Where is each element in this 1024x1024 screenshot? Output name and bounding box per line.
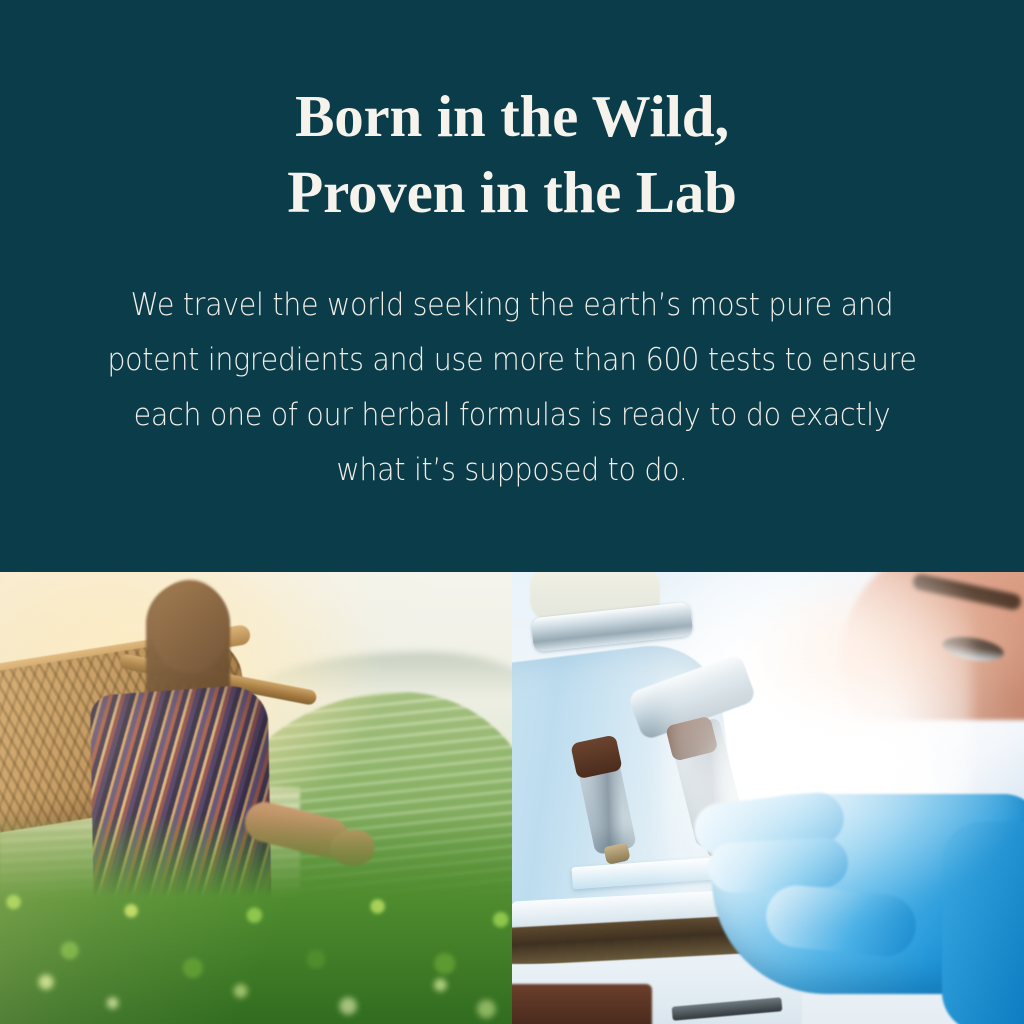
headline-line-1: Born in the Wild,: [0, 78, 1024, 154]
photo-strip: [0, 572, 1024, 1024]
tea-harvest-photo: [0, 572, 512, 1024]
teal-text-band: Born in the Wild, Proven in the Lab We t…: [0, 0, 1024, 572]
marketing-poster: Born in the Wild, Proven in the Lab We t…: [0, 0, 1024, 1024]
foreground-bokeh: [0, 874, 512, 1024]
objective-collar: [570, 735, 622, 780]
page-title: Born in the Wild, Proven in the Lab: [0, 78, 1024, 230]
microscope-base-shadow: [512, 984, 652, 1024]
glove-wrist: [942, 822, 1024, 1024]
headline-line-2: Proven in the Lab: [0, 154, 1024, 230]
glove-finger-middle: [707, 836, 849, 893]
body-paragraph: We travel the world seeking the earth’s …: [105, 278, 920, 498]
picker-head: [152, 580, 228, 672]
laboratory-microscope-photo: [512, 572, 1024, 1024]
